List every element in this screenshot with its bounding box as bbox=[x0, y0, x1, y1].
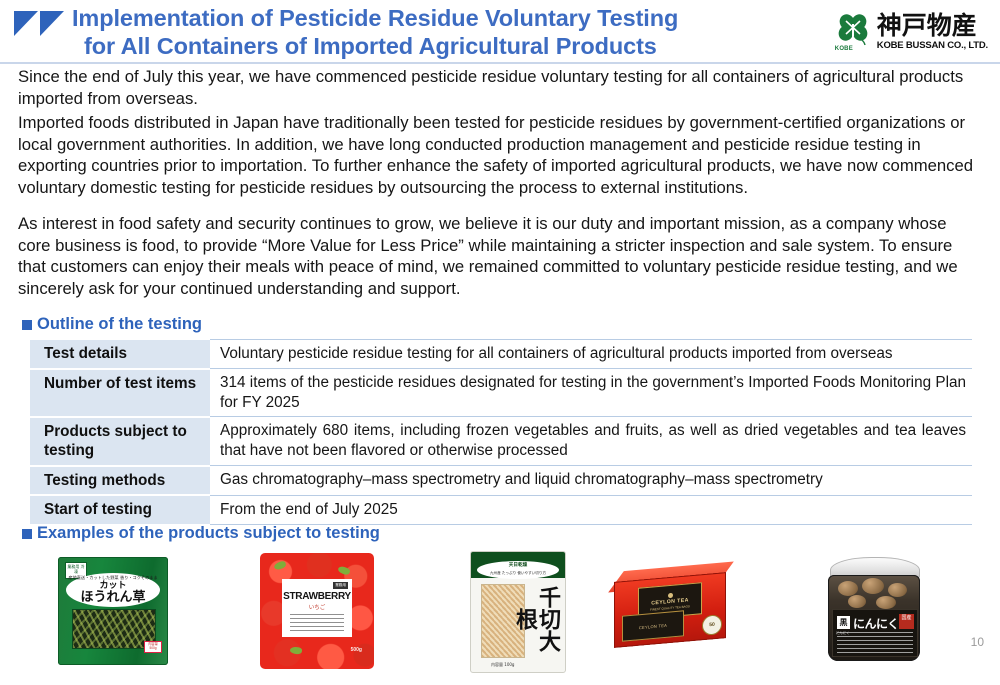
tea-box-art: CEYLON TEA FINEST QUALITY TEA BAGS CEYLO… bbox=[614, 567, 736, 653]
garlic-description-lines bbox=[837, 632, 913, 653]
daikon-package-art: 天日乾燥 九州産 たっぷり 使いやすい切り方 千切大根 内容量 100g bbox=[470, 551, 566, 673]
logo-text-block: 神戸物産 KOBE BUSSAN CO., LTD. bbox=[877, 13, 988, 51]
company-logo: KOBE 神戸物産 KOBE BUSSAN CO., LTD. bbox=[835, 10, 988, 54]
strawberry-brand-tag: 業務用 bbox=[333, 582, 348, 589]
product-examples-gallery: 業務用 冷凍 産地直送・カットした野菜 香り・コクそのまま カット ほうれん草 … bbox=[30, 549, 970, 675]
strawberry-package-art: 業務用 STRAWBERRY いちご 500g bbox=[260, 553, 374, 669]
row-value: From the end of July 2025 bbox=[210, 495, 972, 525]
header-triangles-decoration bbox=[14, 11, 66, 37]
garlic-jar-art: 黒 にんにく にんにく 国産 bbox=[826, 557, 922, 663]
product-image-dried-daikon: 天日乾燥 九州産 たっぷり 使いやすい切り方 千切大根 内容量 100g bbox=[452, 549, 582, 675]
strawberry-description-lines bbox=[290, 614, 344, 634]
product-image-ceylon-tea: CEYLON TEA FINEST QUALITY TEA BAGS CEYLO… bbox=[610, 549, 740, 675]
tea-title-en-front: CEYLON TEA bbox=[639, 622, 667, 629]
strawberry-leaf-decoration bbox=[337, 565, 351, 576]
strawberry-title-en: STRAWBERRY bbox=[283, 591, 351, 602]
garlic-clove bbox=[838, 581, 858, 596]
spinach-package-art: 業務用 冷凍 産地直送・カットした野菜 香り・コクそのまま カット ほうれん草 … bbox=[58, 557, 168, 665]
daikon-net-weight: 内容量 100g bbox=[491, 662, 514, 668]
row-label: Products subject to testing bbox=[30, 417, 210, 466]
triangle-icon bbox=[40, 11, 64, 36]
garlic-origin-stamp: 国産 bbox=[899, 614, 914, 629]
garlic-clove bbox=[876, 596, 896, 609]
page-title: Implementation of Pesticide Residue Volu… bbox=[72, 4, 772, 60]
row-label: Number of test items bbox=[30, 369, 210, 417]
strawberry-title-jp: いちご bbox=[309, 603, 326, 611]
daikon-top-line: 天日乾燥 bbox=[485, 563, 551, 569]
table-row: Products subject to testing Approximatel… bbox=[30, 417, 972, 466]
jar-label-panel: 黒 にんにく にんにく 国産 bbox=[832, 609, 918, 657]
table-row: Start of testing From the end of July 20… bbox=[30, 495, 972, 525]
product-image-black-garlic-jar: 黒 にんにく にんにく 国産 bbox=[808, 549, 938, 675]
section-heading-examples: Examples of the products subject to test… bbox=[22, 524, 380, 543]
strawberry-leaf-decoration bbox=[273, 560, 287, 570]
tea-crest-icon bbox=[668, 592, 673, 597]
page-number: 10 bbox=[971, 635, 984, 649]
jar-body: 黒 にんにく にんにく 国産 bbox=[828, 575, 920, 661]
garlic-clove bbox=[888, 583, 907, 597]
background-paragraph: Imported foods distributed in Japan have… bbox=[18, 112, 976, 198]
table-row: Number of test items 314 items of the pe… bbox=[30, 369, 972, 417]
header-divider bbox=[0, 62, 1000, 64]
strawberry-leaf-decoration bbox=[290, 646, 303, 655]
section-heading-examples-label: Examples of the products subject to test… bbox=[37, 524, 380, 543]
logo-name-en: KOBE BUSSAN CO., LTD. bbox=[877, 41, 988, 51]
logo-name-jp: 神戸物産 bbox=[877, 13, 977, 38]
table-row: Test details Voluntary pesticide residue… bbox=[30, 339, 972, 369]
spinach-label-oval: 産地直送・カットした野菜 香り・コクそのまま カット ほうれん草 bbox=[66, 573, 160, 607]
page-title-line1: Implementation of Pesticide Residue Volu… bbox=[72, 5, 678, 31]
row-value: 314 items of the pesticide residues desi… bbox=[210, 369, 972, 417]
daikon-sub-line: 九州産 たっぷり 使いやすい切り方 bbox=[483, 571, 553, 576]
tea-front-label-plate: CEYLON TEA bbox=[622, 610, 684, 641]
clover-kobe-label: KOBE bbox=[835, 46, 853, 52]
strawberry-label-panel: 業務用 STRAWBERRY いちご bbox=[282, 579, 352, 637]
row-value: Voluntary pesticide residue testing for … bbox=[210, 339, 972, 369]
square-bullet-icon bbox=[22, 320, 32, 330]
strawberry-net-weight: 500g bbox=[351, 647, 362, 653]
row-label: Start of testing bbox=[30, 495, 210, 525]
table-row: Testing methods Gas chromatography–mass … bbox=[30, 466, 972, 496]
intro-paragraph: Since the end of July this year, we have… bbox=[18, 66, 976, 109]
row-value: Gas chromatography–mass spectrometry and… bbox=[210, 466, 972, 496]
row-label: Testing methods bbox=[30, 466, 210, 496]
section-heading-outline-label: Outline of the testing bbox=[37, 315, 202, 334]
daikon-title-jp: 千切大根 bbox=[529, 582, 559, 656]
clover-icon: KOBE bbox=[835, 12, 871, 52]
page-title-line2: for All Containers of Imported Agricultu… bbox=[72, 32, 772, 60]
slide-header: Implementation of Pesticide Residue Volu… bbox=[0, 0, 1000, 62]
section-heading-outline: Outline of the testing bbox=[22, 315, 202, 334]
spinach-title-large: ほうれん草 bbox=[80, 591, 145, 605]
row-value: Approximately 680 items, including froze… bbox=[210, 417, 972, 466]
testing-outline-table: Test details Voluntary pesticide residue… bbox=[30, 338, 972, 526]
product-image-frozen-strawberry: 業務用 STRAWBERRY いちご 500g bbox=[252, 549, 382, 675]
triangle-icon bbox=[14, 11, 38, 36]
commitment-paragraph: As interest in food safety and security … bbox=[18, 213, 976, 299]
garlic-mark-jp: 黒 bbox=[837, 616, 850, 629]
garlic-clove bbox=[848, 595, 866, 608]
product-image-cut-spinach: 業務用 冷凍 産地直送・カットした野菜 香り・コクそのまま カット ほうれん草 … bbox=[48, 549, 178, 675]
spinach-net-weight: 内容量 500g bbox=[144, 641, 162, 653]
garlic-clove bbox=[862, 578, 884, 594]
row-label: Test details bbox=[30, 339, 210, 369]
garlic-title-jp: にんにく bbox=[853, 615, 899, 632]
square-bullet-icon bbox=[22, 529, 32, 539]
